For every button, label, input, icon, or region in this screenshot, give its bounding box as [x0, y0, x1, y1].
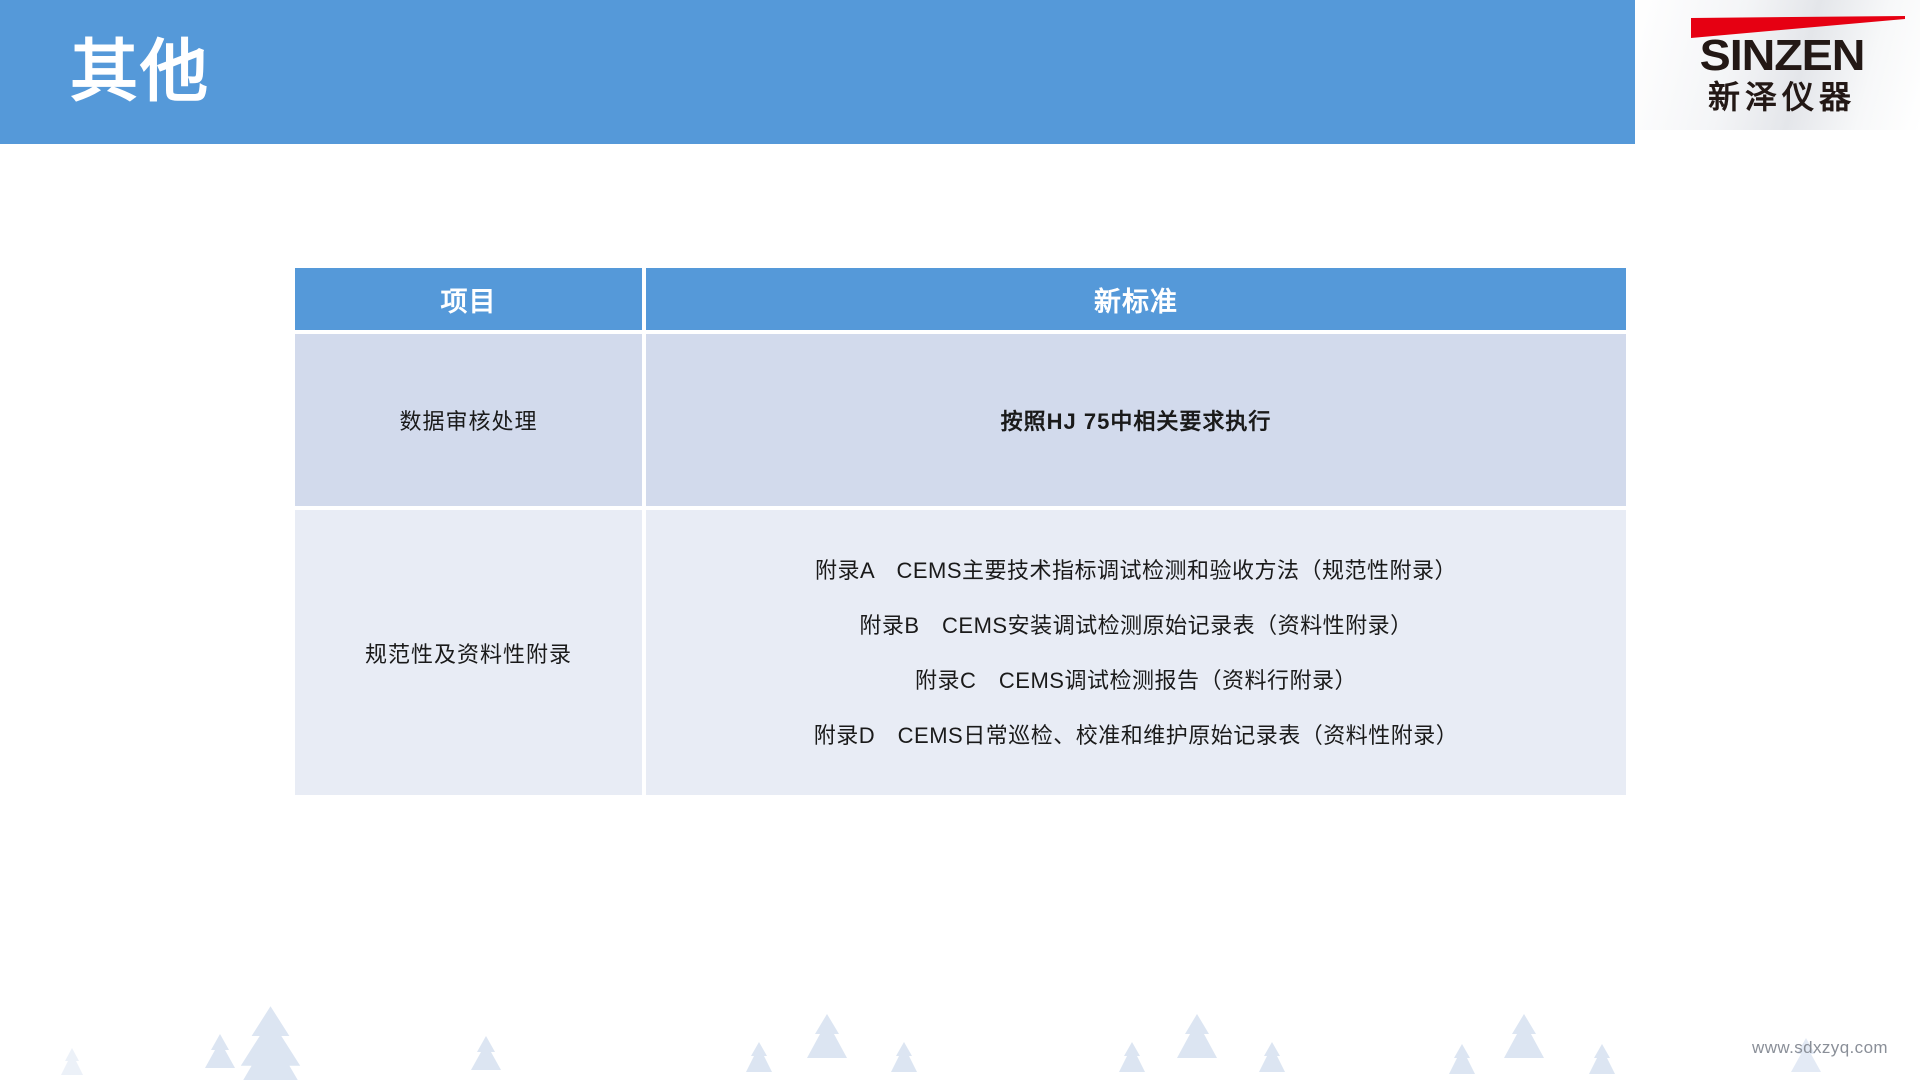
logo-chinese-name: 新泽仪器: [1657, 78, 1907, 116]
pine-trees-decoration: [0, 990, 1920, 1080]
footer-url: www.sdxzyq.com: [1752, 1038, 1888, 1058]
logo-inner: SINZEN 新泽仪器: [1657, 8, 1907, 124]
slide-root: 其他 SINZEN 新泽仪器 项目 新标准 数据审核处理 按照HJ 75中相关要…: [0, 0, 1920, 1080]
company-logo: SINZEN 新泽仪器: [1635, 0, 1920, 130]
row-standard-value: 按照HJ 75中相关要求执行: [646, 334, 1626, 506]
list-item: 附录D CEMS日常巡检、校准和维护原始记录表（资料性附录）: [656, 708, 1616, 763]
column-header-item: 项目: [295, 268, 642, 330]
table-header-row: 项目 新标准: [295, 268, 1626, 330]
header-banner: 其他: [0, 0, 1635, 144]
page-title: 其他: [70, 16, 210, 128]
table-row: 规范性及资料性附录 附录A CEMS主要技术指标调试检测和验收方法（规范性附录）…: [295, 510, 1626, 795]
list-item: 附录A CEMS主要技术指标调试检测和验收方法（规范性附录）: [656, 543, 1616, 598]
row-item-label: 规范性及资料性附录: [295, 510, 642, 795]
logo-wordmark: SINZEN: [1650, 33, 1915, 79]
row-standard-value: 附录A CEMS主要技术指标调试检测和验收方法（规范性附录） 附录B CEMS安…: [646, 510, 1626, 795]
row-item-label: 数据审核处理: [295, 334, 642, 506]
appendix-list: 附录A CEMS主要技术指标调试检测和验收方法（规范性附录） 附录B CEMS安…: [646, 537, 1626, 769]
list-item: 附录B CEMS安装调试检测原始记录表（资料性附录）: [656, 598, 1616, 653]
table-row: 数据审核处理 按照HJ 75中相关要求执行: [295, 334, 1626, 506]
column-header-standard: 新标准: [646, 268, 1626, 330]
comparison-table: 项目 新标准 数据审核处理 按照HJ 75中相关要求执行 规范性及资料性附录 附…: [291, 264, 1630, 799]
list-item: 附录C CEMS调试检测报告（资料行附录）: [656, 653, 1616, 708]
